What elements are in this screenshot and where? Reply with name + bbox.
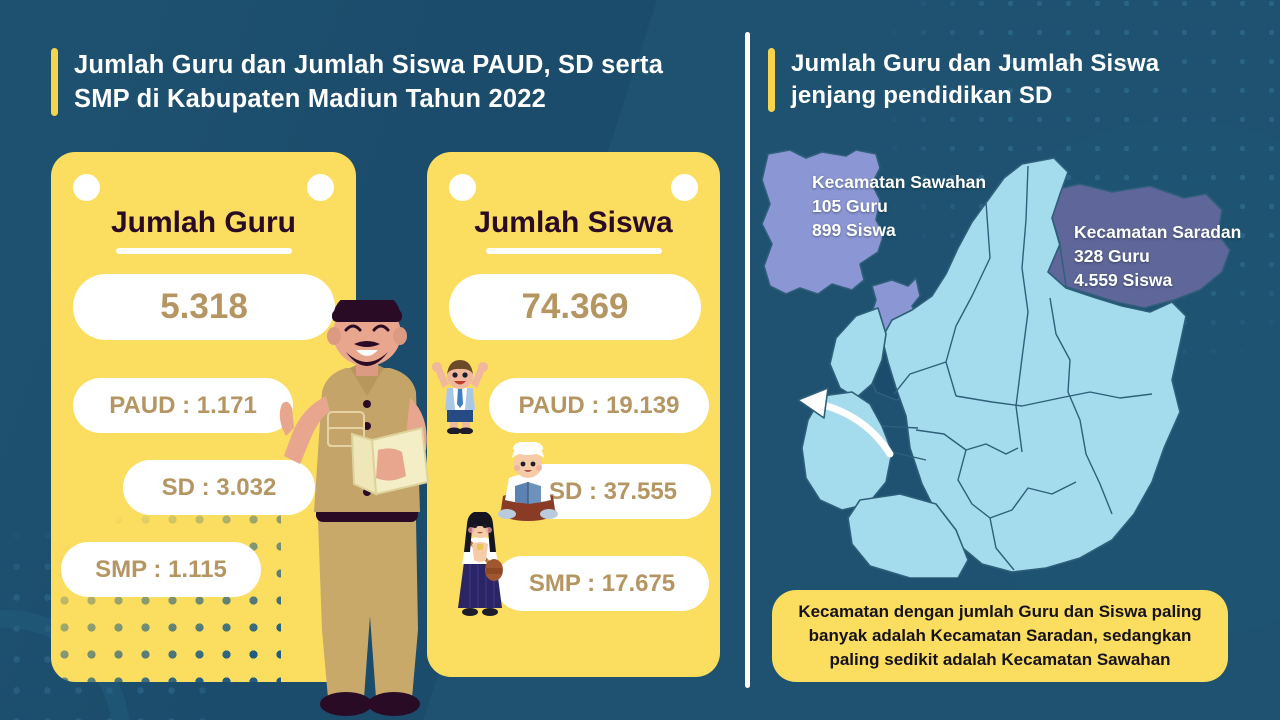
summary-note-text: Kecamatan dengan jumlah Guru dan Siswa p… (788, 600, 1212, 672)
guru-total-pill: 5.318 (73, 274, 335, 340)
map-label-saradan: Kecamatan Saradan 328 Guru 4.559 Siswa (1074, 220, 1241, 292)
stat-card-guru: Jumlah Guru 5.318 PAUD : 1.171 SD : 3.03… (51, 152, 356, 682)
left-title-text: Jumlah Guru dan Jumlah Siswa PAUD, SD se… (74, 48, 711, 116)
siswa-smp-pill: SMP : 17.675 (495, 556, 709, 611)
map-label-sawahan: Kecamatan Sawahan 105 Guru 899 Siswa (812, 170, 986, 242)
siswa-paud-pill: PAUD : 19.139 (489, 378, 709, 433)
panel-divider (745, 32, 750, 688)
card-punch-hole-right (671, 174, 698, 201)
title-accent-bar (51, 48, 58, 116)
map-label-sawahan-siswa: 899 Siswa (812, 218, 986, 242)
card-heading-rule (486, 248, 662, 254)
map-label-saradan-siswa: 4.559 Siswa (1074, 268, 1241, 292)
title-accent-bar (768, 48, 775, 112)
map-label-saradan-name: Kecamatan Saradan (1074, 220, 1241, 244)
infographic-canvas: Jumlah Guru dan Jumlah Siswa PAUD, SD se… (0, 0, 1280, 720)
card-heading-guru: Jumlah Guru (51, 206, 356, 240)
left-panel-title: Jumlah Guru dan Jumlah Siswa PAUD, SD se… (51, 48, 711, 116)
siswa-total-pill: 74.369 (449, 274, 701, 340)
right-title-text: Jumlah Guru dan Jumlah Siswa jenjang pen… (791, 48, 1238, 112)
map-label-saradan-guru: 328 Guru (1074, 244, 1241, 268)
right-panel-title: Jumlah Guru dan Jumlah Siswa jenjang pen… (768, 48, 1238, 112)
stat-card-siswa: Jumlah Siswa 74.369 PAUD : 19.139 SD : 3… (427, 152, 720, 677)
card-punch-hole-right (307, 174, 334, 201)
map-label-sawahan-name: Kecamatan Sawahan (812, 170, 986, 194)
card-punch-hole-left (73, 174, 100, 201)
map-label-sawahan-guru: 105 Guru (812, 194, 986, 218)
guru-smp-pill: SMP : 1.115 (61, 542, 261, 597)
card-heading-rule (116, 248, 292, 254)
summary-note-box: Kecamatan dengan jumlah Guru dan Siswa p… (772, 590, 1228, 682)
guru-sd-pill: SD : 3.032 (123, 460, 315, 515)
siswa-sd-pill: SD : 37.555 (515, 464, 711, 519)
card-punch-hole-left (449, 174, 476, 201)
card-heading-siswa: Jumlah Siswa (427, 206, 720, 240)
guru-paud-pill: PAUD : 1.171 (73, 378, 293, 433)
